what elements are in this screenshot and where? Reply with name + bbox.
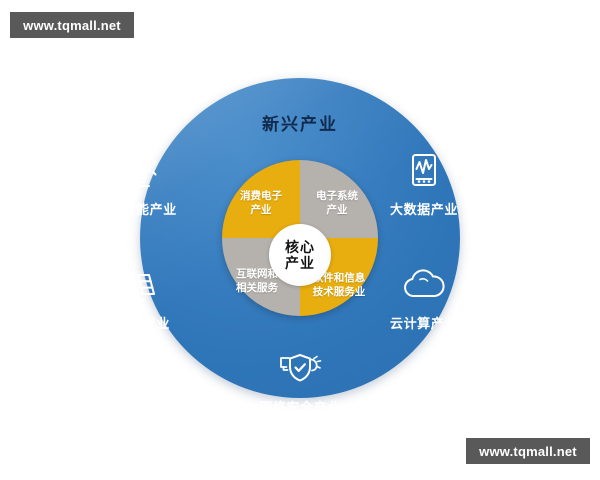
grid-blocks-icon [80,266,192,308]
quadrant-label-bottom-left-line1: 互联网和 [236,268,278,280]
quadrant-label-top-left-line1: 消费电子 [240,190,282,202]
satellite-bigdata-label: 大数据产业 [368,199,480,218]
satellite-cloud-label: 云计算产业 [368,313,480,332]
quadrant-label-top-left: 消费电子 产业 [225,190,297,218]
core-label-line1: 核心 [285,239,315,255]
satellite-ai[interactable]: 人工智能产业 [80,152,192,218]
quadrant-label-bottom-right-line2: 技术服务业 [313,286,366,298]
satellite-cloud[interactable]: 云计算产业 [368,266,480,332]
quadrant-label-top-right-line1: 电子系统 [316,190,358,202]
satellite-security-label: 网络安全产业 [244,397,356,416]
satellite-blockchain[interactable]: 区块链产业 [80,266,192,332]
quadrant-label-top-right: 电子系统 产业 [301,190,373,218]
core-label-line2: 产业 [285,255,315,271]
satellite-security[interactable]: 网络安全产业 [244,350,356,416]
outer-ring-label: 新兴产业 [140,110,460,135]
satellite-blockchain-label: 区块链产业 [80,313,192,332]
core-industry-bubble: 核心 产业 [269,224,331,286]
satellite-bigdata[interactable]: 大数据产业 [368,152,480,218]
quadrant-label-bottom-left-line2: 相关服务 [236,282,278,294]
monitor-chart-icon [368,152,480,194]
cloud-icon [368,266,480,308]
quadrant-label-top-left-line2: 产业 [251,204,272,216]
quadrant-label-top-right-line2: 产业 [327,204,348,216]
shield-icon [244,350,356,392]
satellite-ai-label: 人工智能产业 [80,199,192,218]
robot-icon [80,152,192,194]
industry-circle-diagram: 新兴产业 消费电子 产业 电子系统 产业 互联网和 相关服务 软件和信息 技术服… [0,0,600,480]
